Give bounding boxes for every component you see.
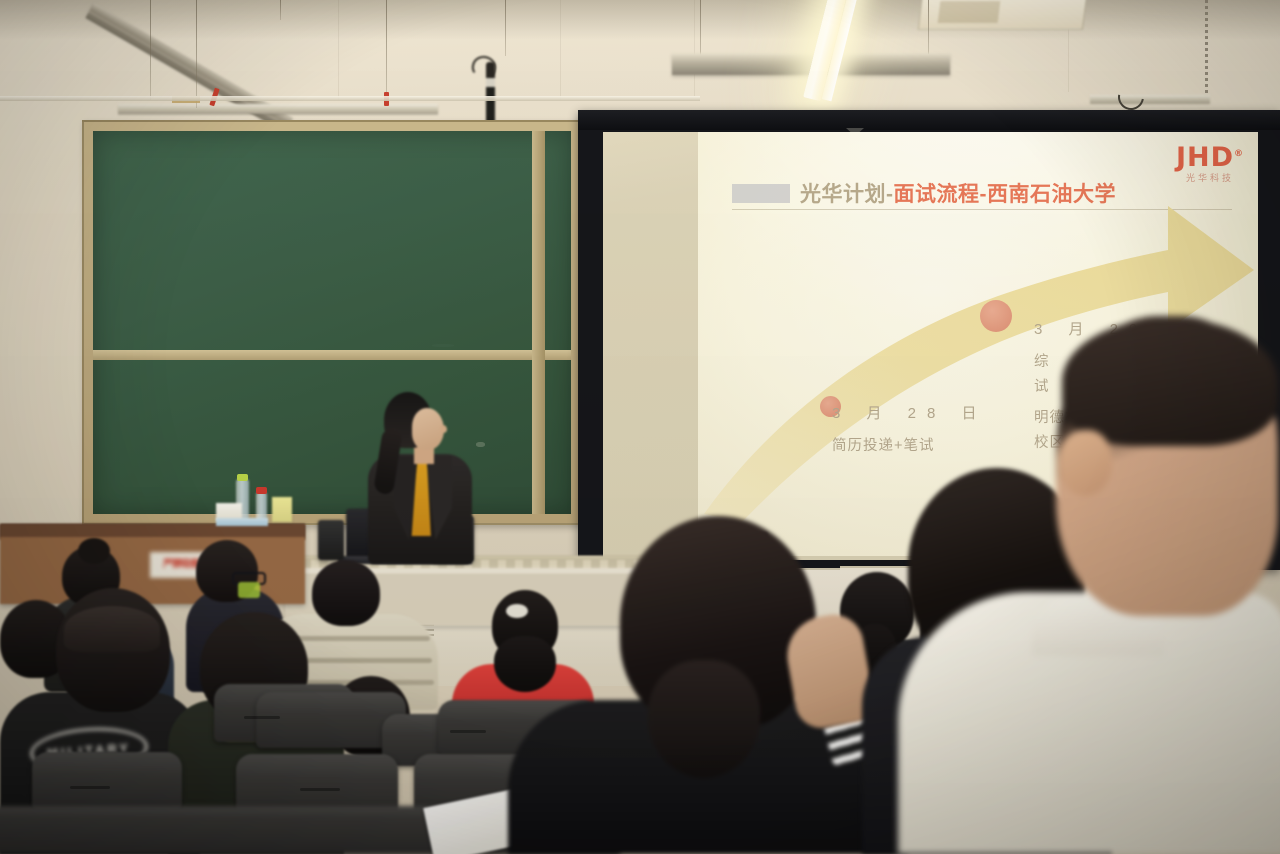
chalk-smudge — [432, 344, 454, 347]
hair-bun — [78, 538, 110, 564]
wall-seam — [560, 0, 561, 100]
registered-mark-icon: ® — [1234, 149, 1244, 159]
ponytail — [494, 636, 556, 692]
chair-seam — [450, 730, 486, 733]
ceiling-chain — [1205, 0, 1208, 94]
desk-row-front — [0, 806, 470, 854]
ceiling-rail-horizontal — [118, 104, 438, 114]
wall-seam — [338, 0, 339, 100]
hair — [1062, 318, 1278, 446]
chair-back — [32, 752, 182, 810]
bottle-cap — [237, 474, 248, 481]
blackboard-divider-rail — [93, 350, 571, 360]
chair-seam — [300, 788, 340, 791]
blackboard-vertical-frame — [532, 131, 545, 514]
yellow-box — [272, 497, 292, 522]
milestone-1-date: 3 月 28 日 — [832, 402, 988, 423]
logo-text: JHD — [1176, 142, 1234, 173]
person-head — [312, 560, 380, 626]
ear — [1058, 430, 1112, 496]
jhd-logo: JHD® 光华科技 — [1176, 144, 1244, 183]
wall-seam — [694, 0, 695, 96]
ponytail — [648, 660, 760, 778]
hanging-wire — [386, 0, 387, 104]
hair-tie — [506, 604, 528, 618]
hanging-wire — [505, 0, 506, 56]
presenter-nose — [440, 425, 447, 433]
hanging-wire — [150, 0, 151, 100]
classroom-photo: 光华计划-面试流程-西南石油大学 JHD® 光华科技 — [0, 0, 1280, 854]
ceiling-shadow — [0, 0, 1280, 40]
chair-seam — [244, 716, 280, 719]
ceiling-rail-right — [1090, 95, 1210, 104]
milestone-dot-2 — [980, 300, 1012, 332]
wall-trim — [0, 96, 700, 101]
blue-tray — [216, 518, 268, 526]
hair-top — [64, 606, 160, 652]
hanging-wire — [280, 0, 281, 20]
hanging-wire — [928, 0, 929, 54]
blackboard-surface — [93, 131, 571, 514]
logo-wordmark: JHD® — [1176, 144, 1244, 171]
blackboard — [82, 120, 582, 525]
bottle-cap — [256, 487, 267, 494]
hanging-wire — [196, 0, 197, 108]
ceiling-vent — [918, 0, 1087, 30]
logo-subtitle: 光华科技 — [1176, 174, 1244, 183]
screen-casing-bar — [578, 110, 1280, 130]
presenter — [360, 392, 480, 562]
lanyard — [238, 582, 260, 598]
chair-seam — [70, 786, 110, 789]
milestone-1-detail: 简历投递+笔试 — [832, 434, 988, 455]
av-equipment — [318, 520, 344, 560]
milestone-1: 3 月 28 日 简历投递+笔试 — [832, 402, 988, 455]
